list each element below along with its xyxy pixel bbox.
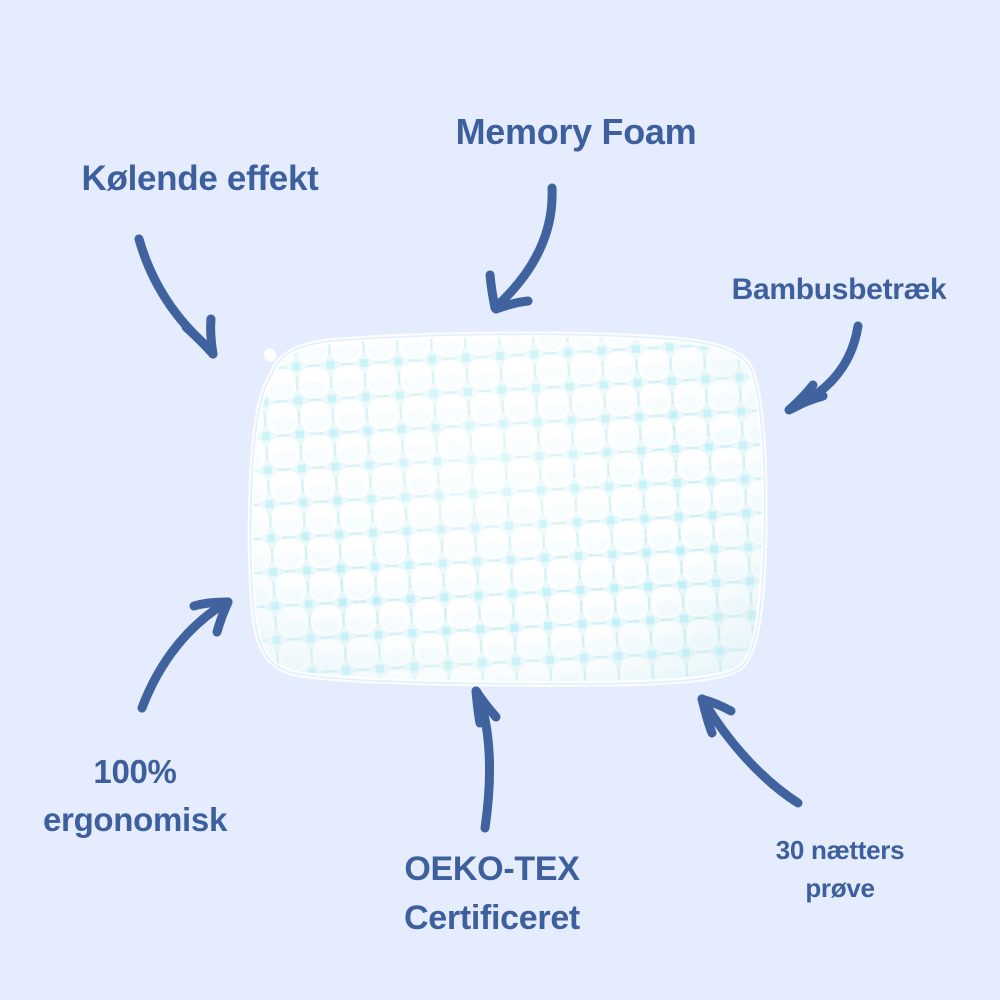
arrow-bamboo-cover	[789, 326, 858, 410]
pillow-illustration	[236, 322, 772, 694]
arrow-ergonomic	[142, 602, 228, 708]
arrow-cooling-effect	[139, 239, 213, 354]
label-ergonomic: 100% ergonomisk	[10, 748, 260, 844]
label-trial-nights: 30 nætters prøve	[740, 832, 940, 907]
product-image-pillow	[236, 322, 772, 694]
pillow-corner-tuft	[264, 349, 277, 362]
label-memory-foam: Memory Foam	[376, 110, 776, 154]
arrow-oeko-tex	[476, 691, 496, 828]
arrow-memory-foam	[490, 188, 552, 309]
arrow-trial	[702, 699, 798, 803]
label-bamboo-cover: Bambusbetræk	[678, 272, 1000, 309]
label-oeko-tex-certified: OEKO-TEX Certificeret	[342, 845, 642, 944]
infographic-canvas: Kølende effekt Memory Foam Bambusbetræk …	[0, 0, 1000, 1000]
label-cooling-effect: Kølende effekt	[0, 158, 400, 201]
